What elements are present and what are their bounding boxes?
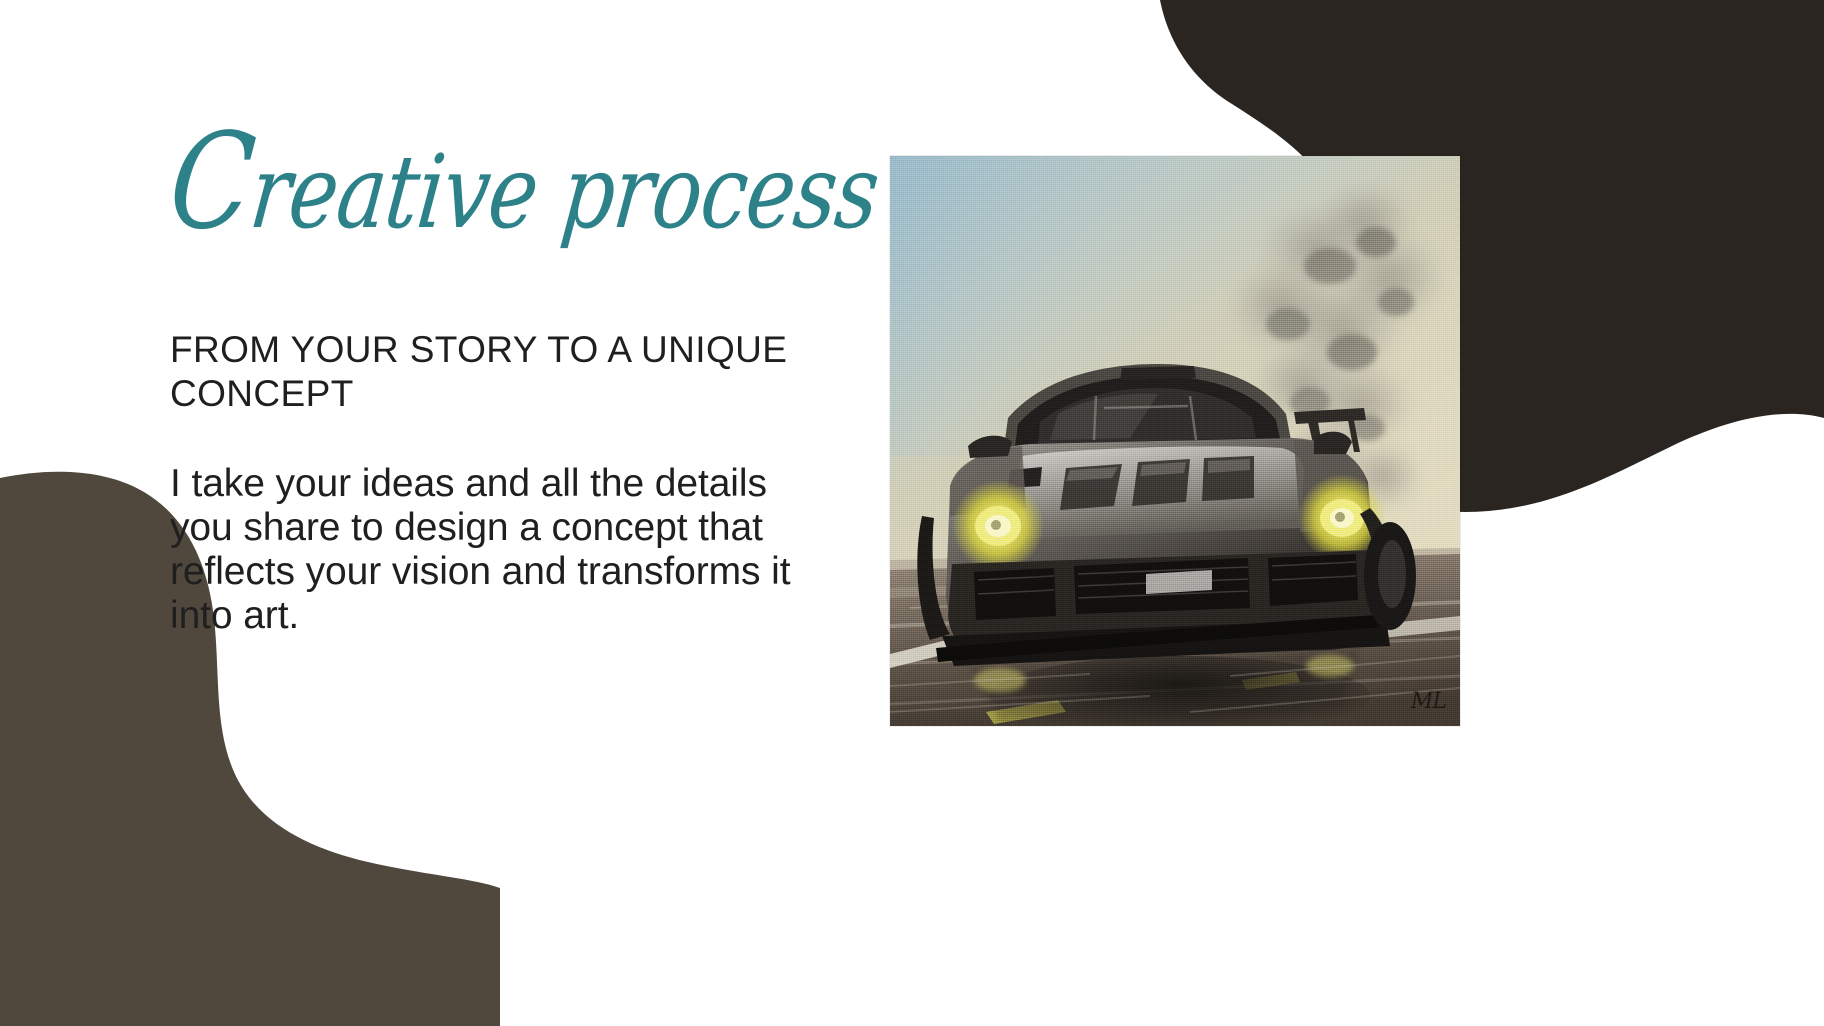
page-title: Creative process (163, 142, 836, 243)
text-column: Creative process FROM YOUR STORY TO A UN… (168, 150, 858, 236)
body-paragraph: I take your ideas and all the details yo… (170, 462, 815, 638)
sports-car-painting: ML (890, 156, 1460, 726)
title-remainder: reative process (245, 134, 884, 252)
subtitle: FROM YOUR STORY TO A UNIQUE CONCEPT (170, 328, 850, 415)
slide-canvas: Creative process FROM YOUR STORY TO A UN… (0, 0, 1824, 1026)
